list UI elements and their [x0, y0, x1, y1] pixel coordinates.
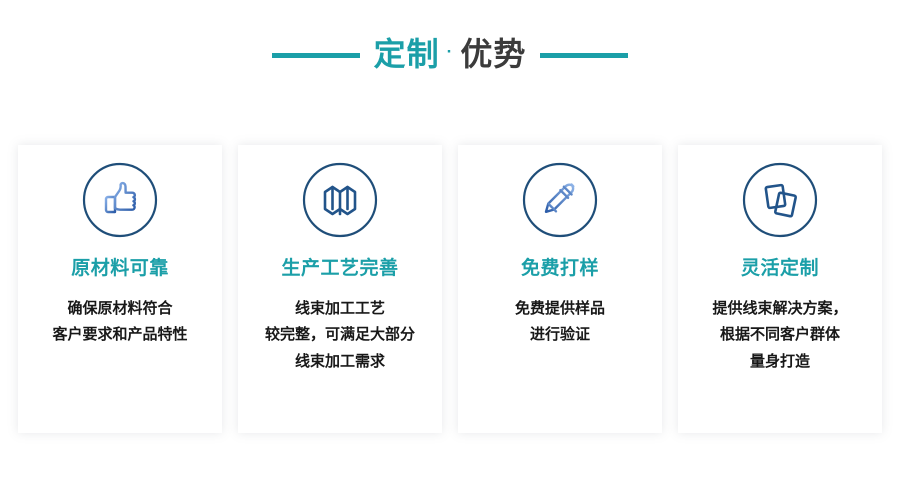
section-header: 定制 · 优势: [0, 0, 900, 110]
card-heading: 免费打样: [521, 259, 599, 278]
feature-card-raw-material[interactable]: 原材料可靠 确保原材料符合 客户要求和产品特性: [18, 145, 222, 433]
stacked-cards-icon: [741, 161, 819, 239]
folded-map-icon: [301, 161, 379, 239]
card-body: 免费提供样品 进行验证: [507, 296, 613, 349]
card-heading: 原材料可靠: [71, 259, 169, 278]
card-body-line: 进行验证: [515, 322, 605, 348]
feature-card-flexible-customization[interactable]: 灵活定制 提供线束解决方案， 根据不同客户群体 量身打造: [678, 145, 882, 433]
page-title-secondary: 优势: [460, 38, 526, 70]
card-body-line: 根据不同客户群体: [712, 322, 847, 348]
card-body-line: 客户要求和产品特性: [52, 322, 187, 348]
feature-cards-row: 原材料可靠 确保原材料符合 客户要求和产品特性 生产工艺完善 线束加工工艺 较完…: [18, 145, 882, 433]
pencil-icon: [521, 161, 599, 239]
card-body: 确保原材料符合 客户要求和产品特性: [44, 296, 195, 349]
card-body-line: 较完整，可满足大部分: [265, 322, 415, 348]
card-body-line: 量身打造: [712, 349, 847, 375]
card-body-line: 免费提供样品: [515, 296, 605, 322]
card-body: 线束加工工艺 较完整，可满足大部分 线束加工需求: [257, 296, 423, 375]
title-rule-left: [272, 53, 360, 58]
card-heading: 生产工艺完善: [281, 259, 398, 278]
feature-card-free-sample[interactable]: 免费打样 免费提供样品 进行验证: [458, 145, 662, 433]
page-title-primary: 定制: [374, 38, 440, 70]
card-heading: 灵活定制: [741, 259, 819, 278]
card-body-line: 确保原材料符合: [52, 296, 187, 322]
card-body-line: 提供线束解决方案，: [712, 296, 847, 322]
title-separator-dot: ·: [447, 43, 454, 60]
title-rule-right: [540, 53, 628, 58]
thumbs-up-icon: [81, 161, 159, 239]
card-body: 提供线束解决方案， 根据不同客户群体 量身打造: [704, 296, 855, 375]
card-body-line: 线束加工需求: [265, 349, 415, 375]
page-title: 定制 · 优势: [374, 38, 527, 72]
feature-card-production-process[interactable]: 生产工艺完善 线束加工工艺 较完整，可满足大部分 线束加工需求: [238, 145, 442, 433]
card-body-line: 线束加工工艺: [265, 296, 415, 322]
